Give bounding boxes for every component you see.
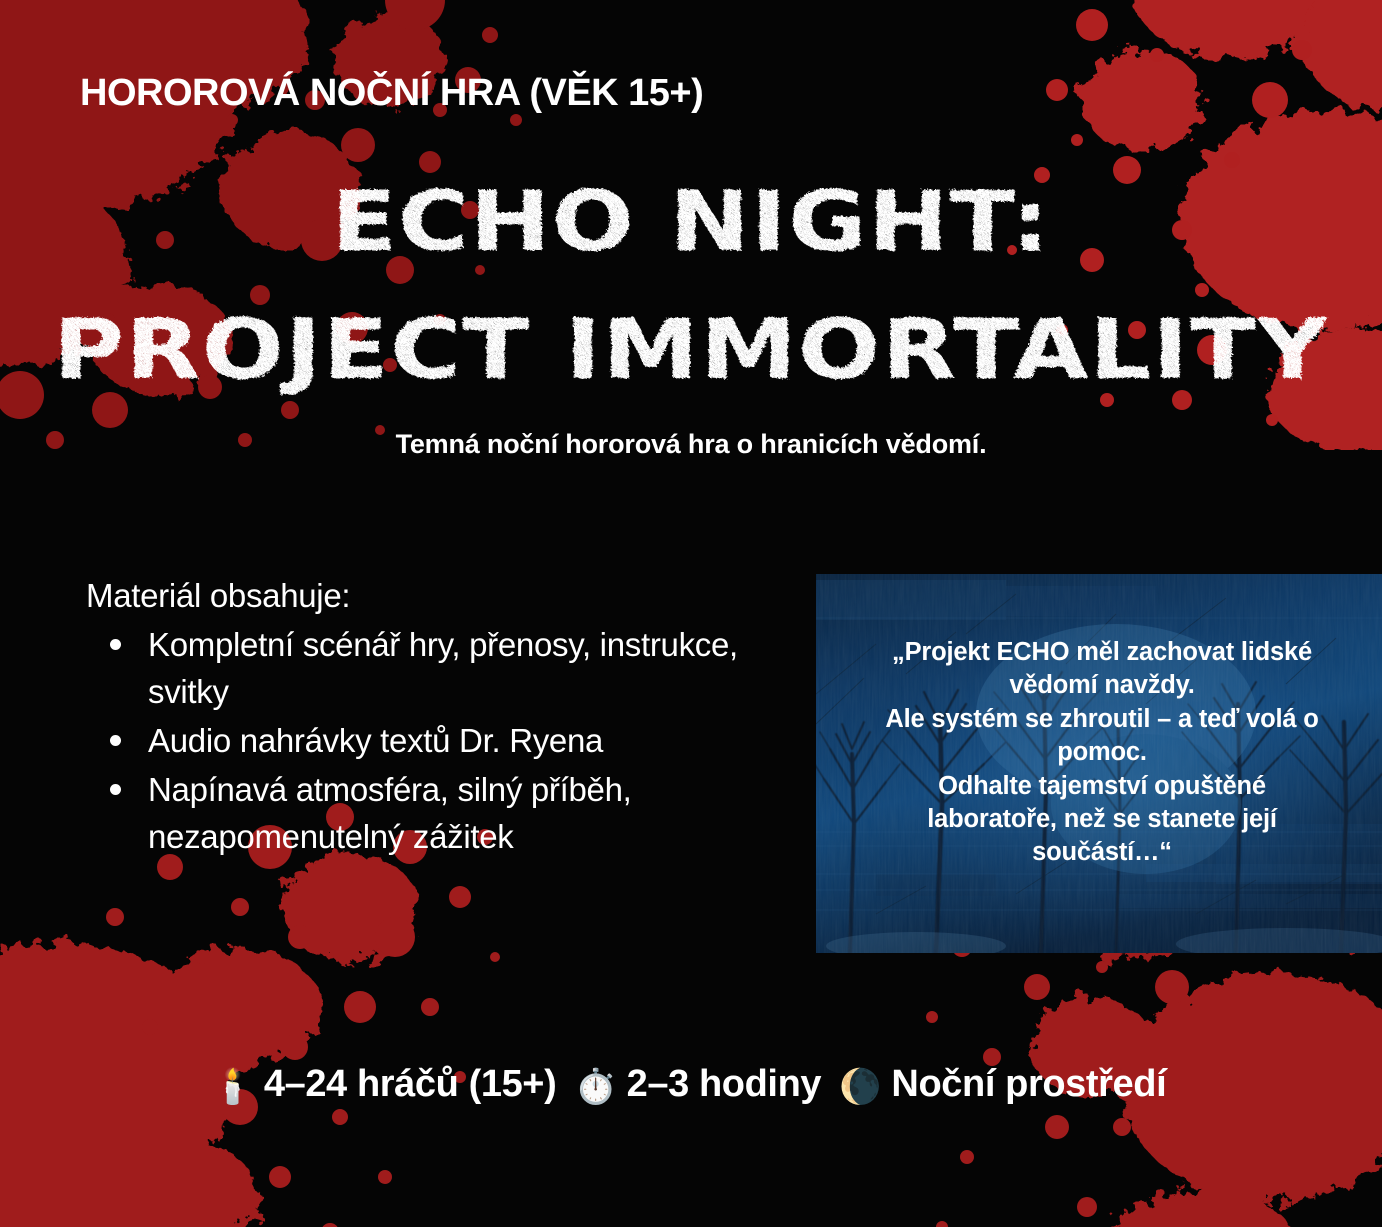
footer-item-players: 🕯️ 4–24 hráčů (15+): [212, 1063, 557, 1107]
footer-item-duration: ⏱️ 2–3 hodiny: [575, 1063, 822, 1107]
page-kicker: HOROROVÁ NOČNÍ HRA (VĚK 15+): [80, 72, 703, 115]
footer-label-players: 4–24 hráčů (15+): [264, 1063, 557, 1106]
waning-moon-emoji-icon: 🌘: [839, 1068, 881, 1106]
list-item: Napínavá atmosféra, silný příběh, nezapo…: [86, 767, 766, 861]
footer-info-bar: 🕯️ 4–24 hráčů (15+) ⏱️ 2–3 hodiny 🌘 Nočn…: [0, 1060, 1382, 1107]
bullet-dot-icon: [110, 639, 121, 650]
quote-text: „Projekt ECHO měl zachovat lidské vědomí…: [840, 636, 1364, 870]
list-item-label: Napínavá atmosféra, silný příběh, nezapo…: [148, 771, 632, 855]
poster-canvas: HOROROVÁ NOČNÍ HRA (VĚK 15+) ECHO N: [0, 0, 1382, 1227]
bullet-dot-icon: [110, 735, 121, 746]
list-item-label: Audio nahrávky textů Dr. Ryena: [148, 722, 603, 759]
page-subtitle: Temná noční hororová hra o hranicích věd…: [0, 429, 1382, 460]
footer-item-setting: 🌘 Noční prostředí: [839, 1063, 1166, 1107]
footer-label-duration: 2–3 hodiny: [627, 1063, 822, 1106]
footer-label-setting: Noční prostředí: [891, 1063, 1166, 1106]
quote-line: laboratoře, než se stanete její: [840, 803, 1364, 836]
quote-line: Odhalte tajemství opuštěné: [840, 770, 1364, 803]
list-item: Audio nahrávky textů Dr. Ryena: [86, 718, 766, 765]
quote-line: součástí…“: [840, 836, 1364, 869]
quote-line: Ale systém se zhroutil – a teď volá o: [840, 703, 1364, 736]
list-item: Kompletní scénář hry, přenosy, instrukce…: [86, 622, 766, 716]
title-svg: ECHO NIGHT: PROJECT IMMORTALITY: [0, 168, 1382, 418]
page-title: ECHO NIGHT: PROJECT IMMORTALITY: [0, 168, 1382, 418]
quote-card: „Projekt ECHO měl zachovat lidské vědomí…: [816, 574, 1382, 953]
materials-heading: Materiál obsahuje:: [86, 575, 766, 616]
title-line-2: PROJECT IMMORTALITY: [53, 302, 1329, 398]
stopwatch-emoji-icon: ⏱️: [575, 1068, 617, 1106]
quote-line: „Projekt ECHO měl zachovat lidské: [840, 636, 1364, 669]
title-line-1: ECHO NIGHT:: [331, 174, 1051, 270]
quote-line: vědomí navždy.: [840, 669, 1364, 702]
candle-emoji-icon: 🕯️: [212, 1068, 254, 1106]
list-item-label: Kompletní scénář hry, přenosy, instrukce…: [148, 626, 738, 710]
materials-section: Materiál obsahuje: Kompletní scénář hry,…: [86, 575, 766, 863]
materials-list: Kompletní scénář hry, přenosy, instrukce…: [86, 622, 766, 860]
quote-line: pomoc.: [840, 736, 1364, 769]
bullet-dot-icon: [110, 784, 121, 795]
